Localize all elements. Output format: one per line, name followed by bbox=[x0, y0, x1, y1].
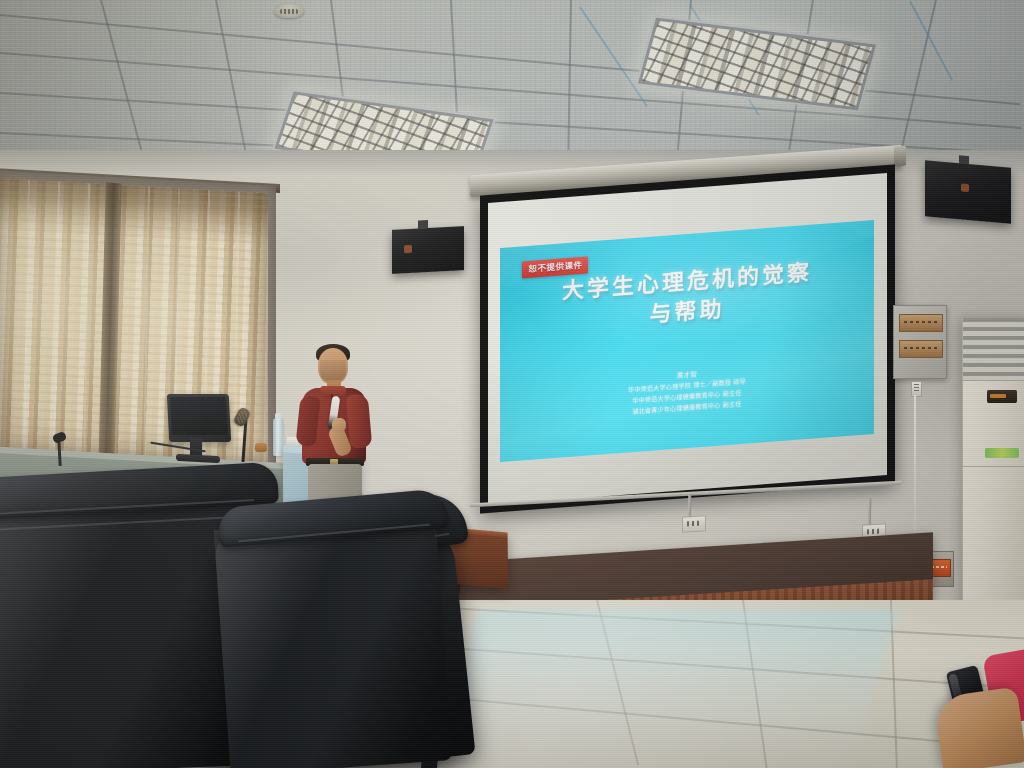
control-panel-plaque bbox=[899, 314, 943, 332]
control-panel-plaque bbox=[899, 340, 943, 358]
foreground-chair-center[interactable] bbox=[192, 498, 482, 768]
desk-object bbox=[255, 443, 267, 452]
presenter-speaking bbox=[296, 340, 380, 520]
ac-panel-seam bbox=[963, 466, 1024, 467]
presenter-face-shadow bbox=[320, 360, 346, 382]
ac-grille bbox=[963, 318, 1024, 381]
ac-display-icon bbox=[987, 390, 1017, 403]
ac-sticker bbox=[985, 448, 1019, 458]
pull-cord[interactable] bbox=[914, 395, 916, 555]
presentation-slide: 恕不提供课件 大学生心理危机的觉察 与帮助 黄才智 华中师范大学心理学院 博士／… bbox=[500, 220, 874, 462]
wall-control-panel[interactable] bbox=[893, 305, 947, 379]
desktop-monitor[interactable] bbox=[167, 394, 231, 442]
speaker-logo-icon bbox=[404, 245, 412, 253]
screen-surface: 恕不提供课件 大学生心理危机的觉察 与帮助 黄才智 华中师范大学心理学院 博士／… bbox=[488, 173, 887, 505]
air-conditioner-unit[interactable] bbox=[962, 318, 1024, 618]
window-with-curtain bbox=[0, 170, 276, 486]
pull-cord-switch[interactable] bbox=[911, 381, 922, 397]
monitor-screen bbox=[170, 397, 228, 435]
screen-roller-cap bbox=[894, 146, 906, 167]
speaker-logo-icon bbox=[961, 183, 969, 192]
wall-outlet[interactable] bbox=[682, 515, 706, 532]
lecture-hall-photo: 恕不提供课件 大学生心理危机的觉察 与帮助 黄才智 华中师范大学心理学院 博士／… bbox=[0, 0, 1024, 768]
slide-glare bbox=[500, 220, 874, 462]
presenter-hand bbox=[332, 418, 346, 432]
bottle-cap bbox=[275, 413, 281, 419]
leather-sheen bbox=[214, 515, 453, 768]
water-bottle[interactable] bbox=[273, 418, 283, 456]
projection-screen[interactable]: 恕不提供课件 大学生心理危机的觉察 与帮助 黄才智 华中师范大学心理学院 博士／… bbox=[480, 164, 895, 513]
chair-backrest bbox=[214, 515, 453, 768]
wall-speaker-left bbox=[392, 226, 464, 274]
speaker-bracket bbox=[418, 220, 428, 229]
speaker-bracket bbox=[959, 155, 969, 164]
presenter-right-arm bbox=[346, 393, 373, 449]
wall-speaker-right bbox=[925, 160, 1011, 224]
